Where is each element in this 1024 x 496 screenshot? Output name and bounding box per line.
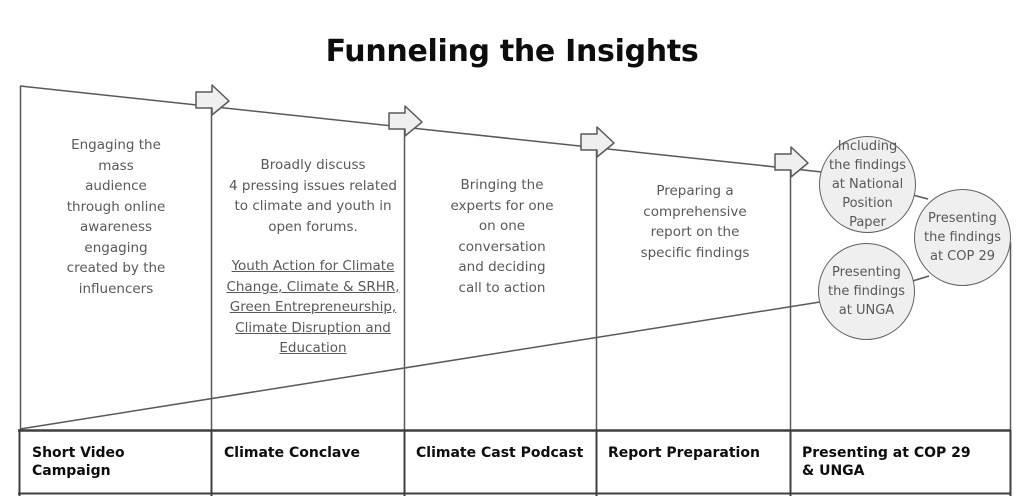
stage-label-text: Short Video Campaign (32, 445, 125, 479)
funnel-bottom-diagonal (20, 302, 820, 429)
arrow-stage-2-to-3 (389, 106, 422, 136)
stage-label-text: Climate Conclave (224, 445, 360, 461)
stage-label-climate-conclave: Climate Conclave (224, 444, 396, 462)
stage-description-text: Engaging the mass audience through onlin… (67, 137, 166, 297)
arrow-stage-1-to-2 (196, 85, 229, 115)
stage-description-climate-cast-podcast: Bringing the experts for one on one conv… (412, 175, 592, 298)
stage-description-report-preparation: Preparing a comprehensive report on the … (604, 181, 786, 263)
stage-description-text: Preparing a comprehensive report on the … (641, 183, 750, 261)
stage-label-presenting-cop29-unga: Presenting at COP 29 & UNGA (802, 444, 980, 480)
stage-label-text: Climate Cast Podcast (416, 445, 583, 461)
stage-label-short-video-campaign: Short Video Campaign (32, 444, 204, 480)
stage-label-climate-cast-podcast: Climate Cast Podcast (416, 444, 590, 462)
outcome-circle-national-position-paper[interactable]: Including the findings at National Posit… (819, 136, 916, 233)
outcome-circle-unga[interactable]: Presenting the findings at UNGA (818, 243, 915, 340)
outcome-circle-label: Presenting the findings at UNGA (819, 263, 914, 320)
outcome-circle-label: Presenting the findings at COP 29 (915, 209, 1010, 266)
arrow-stage-3-to-4 (581, 127, 614, 157)
stage-description-climate-conclave: Broadly discuss 4 pressing issues relate… (218, 155, 408, 359)
arrow-stage-4-to-5 (775, 147, 808, 177)
stage-description-text: Bringing the experts for one on one conv… (450, 177, 553, 296)
outcome-circle-cop29[interactable]: Presenting the findings at COP 29 (914, 189, 1011, 286)
outcome-circle-label: Including the findings at National Posit… (820, 137, 915, 232)
stage-label-report-preparation: Report Preparation (608, 444, 784, 462)
stage-description-short-video-campaign: Engaging the mass audience through onlin… (28, 135, 204, 299)
stage-label-text: Presenting at COP 29 & UNGA (802, 445, 971, 479)
stage-description-text: Broadly discuss 4 pressing issues relate… (229, 157, 397, 235)
stage-label-text: Report Preparation (608, 445, 760, 461)
stage-description-topics: Youth Action for Climate Change, Climate… (218, 256, 408, 359)
diagram-canvas: Funneling the Insights (0, 0, 1024, 496)
